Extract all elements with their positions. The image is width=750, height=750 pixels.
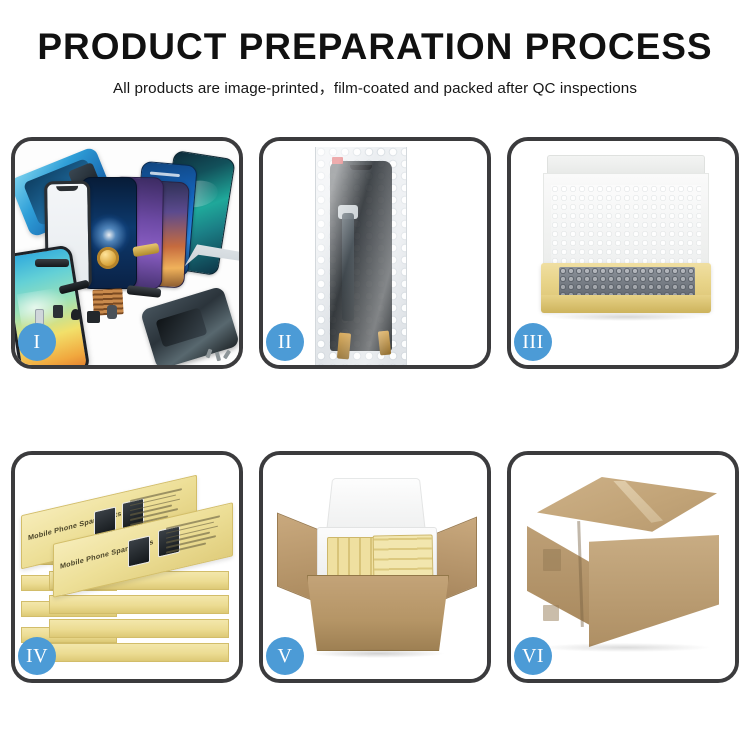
carton-face-right	[589, 535, 719, 647]
product-preparation-infographic: PRODUCT PREPARATION PROCESS All products…	[0, 0, 750, 750]
battery-part-graphic	[107, 305, 117, 319]
tray-front-edge-graphic	[541, 295, 711, 313]
yellow-boxes-graphic	[373, 534, 434, 579]
step-badge-4: IV	[18, 637, 56, 675]
drop-shadow	[547, 313, 705, 321]
page-title: PRODUCT PREPARATION PROCESS	[0, 26, 750, 67]
earpiece-speaker-graphic	[35, 259, 69, 267]
page-subtitle: All products are image-printed，film-coat…	[0, 76, 750, 98]
header: PRODUCT PREPARATION PROCESS All products…	[0, 0, 750, 98]
box-edge	[49, 619, 229, 638]
speaker-coil-graphic	[97, 247, 119, 269]
drop-shadow	[311, 649, 445, 658]
open-inner-box-graphic	[533, 155, 719, 333]
small-part-graphic	[87, 311, 100, 323]
box-stack-graphic: Mobile Phone Spare Parts Mobile Phone Sp…	[19, 471, 239, 671]
screws-graphic	[207, 349, 233, 363]
carton-body-graphic	[307, 575, 449, 651]
process-step-5[interactable]: V	[259, 451, 491, 683]
carton-face-left	[527, 517, 597, 629]
process-step-2[interactable]: II	[259, 137, 491, 369]
step-badge-1: I	[18, 323, 56, 361]
sealed-carton-graphic	[527, 477, 727, 657]
box-edge	[49, 595, 229, 614]
step-badge-2: II	[266, 323, 304, 361]
process-step-grid: I II	[11, 137, 739, 683]
process-step-3[interactable]: III	[507, 137, 739, 369]
spec-lines-graphic	[166, 514, 224, 561]
step-badge-3: III	[514, 323, 552, 361]
step-badge-5: V	[266, 637, 304, 675]
process-step-6[interactable]: VI	[507, 451, 739, 683]
carton-mark	[543, 605, 559, 621]
process-step-4[interactable]: Mobile Phone Spare Parts Mobile Phone Sp…	[11, 451, 243, 683]
carton-mark	[543, 549, 561, 571]
box-edge	[49, 643, 229, 662]
plastic-sheen-overlay	[316, 147, 406, 365]
step-badge-6: VI	[514, 637, 552, 675]
bubble-wrap-bag-graphic	[315, 147, 407, 365]
drop-shadow	[541, 643, 709, 652]
process-step-1[interactable]: I	[11, 137, 243, 369]
small-part-graphic	[71, 309, 80, 320]
open-shipping-carton-graphic	[277, 471, 477, 663]
small-part-graphic	[53, 305, 63, 318]
